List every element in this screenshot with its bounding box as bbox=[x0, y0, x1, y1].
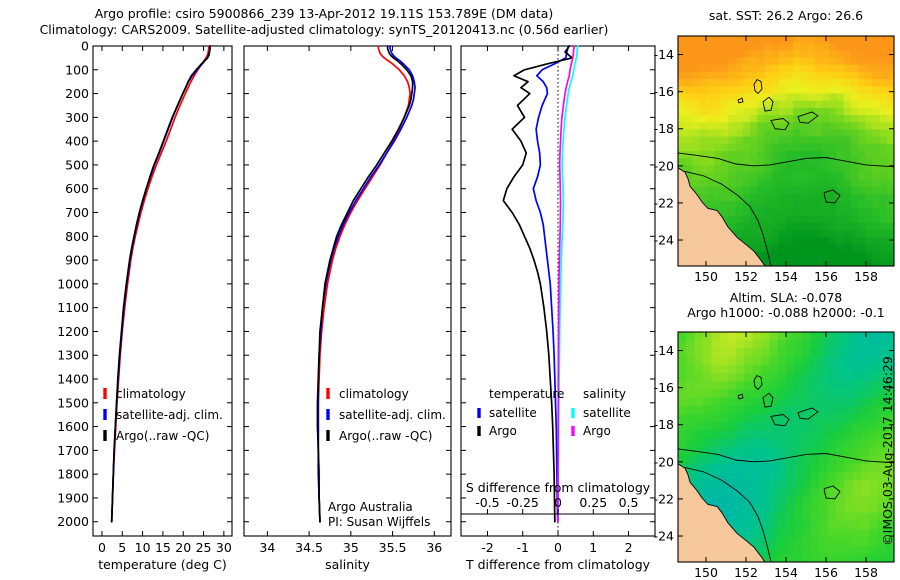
map-cell bbox=[700, 58, 708, 66]
map-cell bbox=[872, 187, 880, 195]
map-cell bbox=[786, 244, 794, 252]
map-cell bbox=[728, 101, 736, 109]
map-cell bbox=[736, 36, 744, 44]
map-cell bbox=[778, 398, 787, 407]
salinity-panel[interactable]: 3434.53535.536salinityclimatologysatelli… bbox=[238, 36, 463, 580]
map-cell bbox=[757, 50, 765, 58]
map-cell bbox=[880, 144, 888, 152]
map-cell bbox=[769, 406, 778, 415]
map-cell bbox=[808, 36, 816, 44]
map-cell bbox=[844, 340, 853, 349]
map-cell bbox=[836, 144, 844, 152]
map-cell bbox=[720, 348, 729, 357]
map-cell bbox=[753, 496, 762, 505]
map-cell bbox=[822, 79, 830, 87]
map-cell bbox=[711, 373, 720, 382]
map-cell bbox=[819, 480, 828, 489]
map-cell bbox=[743, 187, 751, 195]
map-cell bbox=[769, 390, 778, 399]
map-cell bbox=[703, 340, 712, 349]
map-cell bbox=[822, 43, 830, 51]
map-cell bbox=[869, 496, 878, 505]
map-cell bbox=[844, 151, 852, 159]
map-cell bbox=[858, 79, 866, 87]
map-cell bbox=[764, 129, 772, 137]
map-cell bbox=[721, 58, 729, 66]
map-cell bbox=[707, 144, 715, 152]
map-cell bbox=[761, 431, 770, 440]
map-cell bbox=[711, 463, 720, 472]
map-cell bbox=[858, 151, 866, 159]
map-cell bbox=[808, 165, 816, 173]
map-cell bbox=[786, 223, 794, 231]
map-cell bbox=[829, 43, 837, 51]
map-cell bbox=[865, 101, 873, 109]
map-cell bbox=[887, 216, 895, 224]
map-cell bbox=[861, 381, 870, 390]
map-cell bbox=[761, 373, 770, 382]
map-cell bbox=[686, 348, 695, 357]
map-cell bbox=[714, 115, 722, 123]
map-cell bbox=[772, 137, 780, 145]
map-cell bbox=[711, 381, 720, 390]
map-cell bbox=[844, 381, 853, 390]
map-cell bbox=[786, 43, 794, 51]
map-cell bbox=[851, 216, 859, 224]
map-cell bbox=[678, 390, 687, 399]
map-cell bbox=[764, 180, 772, 188]
map-cell bbox=[836, 521, 845, 530]
map-cell bbox=[779, 201, 787, 209]
map-cell bbox=[800, 79, 808, 87]
map-cell bbox=[819, 340, 828, 349]
map-cell bbox=[865, 173, 873, 181]
s-axis-tick-label: -0.5 bbox=[475, 495, 499, 510]
map-cell bbox=[728, 58, 736, 66]
map-cell bbox=[757, 115, 765, 123]
map-cell bbox=[819, 513, 828, 522]
map-cell bbox=[829, 194, 837, 202]
map-cell bbox=[794, 340, 803, 349]
map-cell bbox=[700, 72, 708, 80]
map-cell bbox=[829, 237, 837, 245]
map-cell bbox=[779, 86, 787, 94]
y-tick-label: 600 bbox=[65, 181, 89, 196]
map-cell bbox=[744, 398, 753, 407]
map-cell bbox=[803, 529, 812, 538]
map-cell bbox=[819, 406, 828, 415]
map-cell bbox=[852, 463, 861, 472]
map-cell bbox=[886, 546, 895, 555]
map-title: sat. SST: 26.2 Argo: 26.6 bbox=[709, 8, 863, 23]
map-cell bbox=[803, 463, 812, 472]
map-cell bbox=[743, 115, 751, 123]
difference-panel[interactable]: -2-1012T difference from climatology-0.5… bbox=[455, 36, 665, 580]
map-cell bbox=[800, 244, 808, 252]
map-cell bbox=[852, 505, 861, 514]
map-cell bbox=[811, 505, 820, 514]
map-cell bbox=[880, 201, 888, 209]
map-cell bbox=[695, 439, 704, 448]
map-cell bbox=[711, 439, 720, 448]
map-cell bbox=[778, 546, 787, 555]
map-cell bbox=[728, 144, 736, 152]
map-cell bbox=[714, 201, 722, 209]
map-cell bbox=[822, 94, 830, 102]
map-cell bbox=[794, 439, 803, 448]
map-cell bbox=[692, 58, 700, 66]
map-cell bbox=[822, 252, 830, 260]
map-cell bbox=[736, 398, 745, 407]
map-cell bbox=[819, 431, 828, 440]
map-cell bbox=[743, 129, 751, 137]
map-cell bbox=[887, 72, 895, 80]
map-cell bbox=[707, 158, 715, 166]
map-cell bbox=[851, 244, 859, 252]
map-cell bbox=[736, 209, 744, 217]
map-cell bbox=[772, 180, 780, 188]
map-cell bbox=[772, 144, 780, 152]
map-cell bbox=[700, 43, 708, 51]
map-cell bbox=[743, 144, 751, 152]
x-tick-label: 35 bbox=[343, 540, 359, 555]
map-cell bbox=[858, 180, 866, 188]
map-cell bbox=[819, 373, 828, 382]
map-cell bbox=[828, 529, 837, 538]
map-cell bbox=[819, 529, 828, 538]
map-cell bbox=[703, 381, 712, 390]
map-cell bbox=[844, 50, 852, 58]
map-cell bbox=[778, 381, 787, 390]
map-cell bbox=[703, 357, 712, 366]
legend-label: Argo bbox=[489, 424, 517, 438]
map-cell bbox=[779, 94, 787, 102]
map-cell bbox=[815, 36, 823, 44]
map-cell bbox=[851, 72, 859, 80]
map-cell bbox=[794, 505, 803, 514]
map-cell bbox=[851, 201, 859, 209]
map-cell bbox=[772, 94, 780, 102]
map-cell bbox=[811, 513, 820, 522]
map-cell bbox=[869, 365, 878, 374]
map-cell bbox=[678, 137, 686, 145]
map-cell bbox=[808, 144, 816, 152]
map-cell bbox=[880, 94, 888, 102]
map-cell bbox=[772, 129, 780, 137]
map-cell bbox=[714, 65, 722, 73]
map-cell bbox=[819, 390, 828, 399]
map-cell bbox=[829, 259, 837, 267]
map-cell bbox=[836, 398, 845, 407]
map-cell bbox=[872, 237, 880, 245]
map-cell bbox=[703, 398, 712, 407]
map-cell bbox=[714, 72, 722, 80]
map-cell bbox=[819, 348, 828, 357]
map-cell bbox=[678, 447, 687, 456]
map-cell bbox=[721, 36, 729, 44]
map-cell bbox=[728, 36, 736, 44]
map-cell bbox=[720, 390, 729, 399]
map-cell bbox=[772, 65, 780, 73]
map-cell bbox=[786, 554, 795, 563]
map-cell bbox=[750, 216, 758, 224]
map-cell bbox=[803, 537, 812, 546]
map-cell bbox=[736, 72, 744, 80]
x-tick-label: 5 bbox=[118, 540, 126, 555]
map-cell bbox=[728, 50, 736, 58]
map-cell bbox=[815, 43, 823, 51]
map-cell bbox=[707, 58, 715, 66]
map-cell bbox=[872, 158, 880, 166]
map-cell bbox=[692, 108, 700, 116]
sst-map-panel[interactable]: sat. SST: 26.2 Argo: 26.6150152154156158… bbox=[640, 4, 900, 294]
map-cell bbox=[744, 472, 753, 481]
map-cell bbox=[844, 505, 853, 514]
map-cell bbox=[828, 406, 837, 415]
temperature-panel[interactable]: 0100200300400500600700800900100011001200… bbox=[0, 36, 240, 580]
map-cell bbox=[764, 201, 772, 209]
map-cell bbox=[736, 521, 745, 530]
map-cell bbox=[778, 505, 787, 514]
legend-label: climatology bbox=[339, 387, 409, 401]
map-cell bbox=[851, 252, 859, 260]
map-cell bbox=[793, 94, 801, 102]
profile-curve bbox=[318, 46, 410, 522]
map-cell bbox=[836, 431, 845, 440]
map-cell bbox=[720, 431, 729, 440]
map-cell bbox=[750, 223, 758, 231]
map-cell bbox=[736, 115, 744, 123]
map-cell bbox=[721, 194, 729, 202]
map-cell bbox=[794, 529, 803, 538]
map-cell bbox=[858, 252, 866, 260]
map-cell bbox=[869, 554, 878, 563]
map-cell bbox=[852, 439, 861, 448]
map-cell bbox=[865, 65, 873, 73]
map-cell bbox=[721, 209, 729, 217]
map-cell bbox=[703, 472, 712, 481]
map-cell bbox=[822, 122, 830, 130]
map-cell bbox=[761, 414, 770, 423]
map-cell bbox=[800, 173, 808, 181]
map-cell bbox=[736, 43, 744, 51]
map-cell bbox=[794, 373, 803, 382]
map-cell bbox=[736, 65, 744, 73]
map-cell bbox=[793, 180, 801, 188]
map-cell bbox=[778, 390, 787, 399]
map-cell bbox=[844, 129, 852, 137]
s-axis-tick-label: 0.5 bbox=[619, 495, 639, 510]
map-cell bbox=[753, 529, 762, 538]
map-cell bbox=[686, 455, 695, 464]
map-cell bbox=[800, 129, 808, 137]
map-cell bbox=[880, 237, 888, 245]
map-cell bbox=[764, 144, 772, 152]
map-cell bbox=[836, 252, 844, 260]
map-cell bbox=[808, 58, 816, 66]
map-cell bbox=[794, 546, 803, 555]
map-cell bbox=[744, 488, 753, 497]
map-cell bbox=[872, 108, 880, 116]
map-cell bbox=[872, 230, 880, 238]
x-axis-label: salinity bbox=[325, 557, 370, 572]
map-cell bbox=[744, 390, 753, 399]
s-axis-tick-label: 0.25 bbox=[579, 495, 607, 510]
map-cell bbox=[887, 36, 895, 44]
map-cell bbox=[851, 58, 859, 66]
map-cell bbox=[865, 72, 873, 80]
map-cell bbox=[736, 50, 744, 58]
map-cell bbox=[779, 72, 787, 80]
map-cell bbox=[803, 480, 812, 489]
map-cell bbox=[858, 144, 866, 152]
map-cell bbox=[678, 86, 686, 94]
map-cell bbox=[861, 447, 870, 456]
map-cell bbox=[803, 381, 812, 390]
map-cell bbox=[865, 209, 873, 217]
map-cell bbox=[743, 94, 751, 102]
map-cell bbox=[769, 381, 778, 390]
map-cell bbox=[869, 431, 878, 440]
map-cell bbox=[811, 480, 820, 489]
map-cell bbox=[779, 244, 787, 252]
map-cell bbox=[736, 340, 745, 349]
map-cell bbox=[811, 332, 820, 341]
map-cell bbox=[750, 158, 758, 166]
map-cell bbox=[808, 201, 816, 209]
map-cell bbox=[794, 521, 803, 530]
map-cell bbox=[692, 86, 700, 94]
map-cell bbox=[743, 108, 751, 116]
map-cell bbox=[887, 108, 895, 116]
map-cell bbox=[692, 36, 700, 44]
map-cell bbox=[744, 439, 753, 448]
map-cell bbox=[786, 340, 795, 349]
map-cell bbox=[728, 513, 737, 522]
map-cell bbox=[750, 65, 758, 73]
map-cell bbox=[861, 513, 870, 522]
map-cell bbox=[728, 194, 736, 202]
map-cell bbox=[836, 505, 845, 514]
map-cell bbox=[872, 122, 880, 130]
map-cell bbox=[686, 390, 695, 399]
map-cell bbox=[728, 406, 737, 415]
map-cell bbox=[829, 94, 837, 102]
map-cell bbox=[750, 122, 758, 130]
map-cell bbox=[744, 496, 753, 505]
y-tick-label: -22 bbox=[654, 195, 674, 210]
map-cell bbox=[844, 79, 852, 87]
map-cell bbox=[736, 144, 744, 152]
map-cell bbox=[779, 50, 787, 58]
map-cell bbox=[678, 108, 686, 116]
map-cell bbox=[800, 94, 808, 102]
map-cell bbox=[721, 144, 729, 152]
map-cell bbox=[707, 137, 715, 145]
map-cell bbox=[728, 79, 736, 87]
map-cell bbox=[880, 72, 888, 80]
map-cell bbox=[720, 439, 729, 448]
map-cell bbox=[757, 194, 765, 202]
map-cell bbox=[750, 151, 758, 159]
map-cell bbox=[844, 455, 853, 464]
map-cell bbox=[721, 79, 729, 87]
map-cell bbox=[764, 58, 772, 66]
map-cell bbox=[887, 173, 895, 181]
map-cell bbox=[836, 129, 844, 137]
map-cell bbox=[714, 108, 722, 116]
map-cell bbox=[778, 447, 787, 456]
map-cell bbox=[828, 488, 837, 497]
map-cell bbox=[836, 513, 845, 522]
map-cell bbox=[736, 108, 744, 116]
map-cell bbox=[695, 332, 704, 341]
map-cell bbox=[872, 173, 880, 181]
map-cell bbox=[852, 513, 861, 522]
map-cell bbox=[703, 431, 712, 440]
map-cell bbox=[772, 223, 780, 231]
map-cell bbox=[815, 122, 823, 130]
map-cell bbox=[728, 173, 736, 181]
map-cell bbox=[844, 390, 853, 399]
map-cell bbox=[728, 414, 737, 423]
map-cell bbox=[808, 252, 816, 260]
map-cell bbox=[736, 137, 744, 145]
map-cell bbox=[743, 101, 751, 109]
map-cell bbox=[872, 115, 880, 123]
map-cell bbox=[822, 86, 830, 94]
map-cell bbox=[753, 414, 762, 423]
map-cell bbox=[772, 165, 780, 173]
sla-map-panel[interactable]: Altim. SLA: -0.078Argo h1000: -0.088 h20… bbox=[640, 286, 900, 580]
map-cell bbox=[794, 365, 803, 374]
map-cell bbox=[872, 43, 880, 51]
map-cell bbox=[779, 101, 787, 109]
map-cell bbox=[865, 230, 873, 238]
y-tick-label: -20 bbox=[654, 454, 674, 469]
map-cell bbox=[736, 129, 744, 137]
y-tick-label: 900 bbox=[65, 253, 89, 268]
map-cell bbox=[692, 101, 700, 109]
map-cell bbox=[678, 36, 686, 44]
map-cell bbox=[692, 144, 700, 152]
map-cell bbox=[695, 373, 704, 382]
map-cell bbox=[836, 72, 844, 80]
map-cell bbox=[836, 230, 844, 238]
map-cell bbox=[822, 180, 830, 188]
map-cell bbox=[786, 151, 794, 159]
map-cell bbox=[793, 244, 801, 252]
map-cell bbox=[815, 65, 823, 73]
map-cell bbox=[720, 447, 729, 456]
map-cell bbox=[865, 122, 873, 130]
map-cell bbox=[803, 439, 812, 448]
map-cell bbox=[815, 187, 823, 195]
map-cell bbox=[869, 472, 878, 481]
map-cell bbox=[793, 187, 801, 195]
map-cell bbox=[887, 137, 895, 145]
map-cell bbox=[851, 101, 859, 109]
map-cell bbox=[844, 108, 852, 116]
map-cell bbox=[779, 36, 787, 44]
map-cell bbox=[711, 365, 720, 374]
y-tick-label: -20 bbox=[654, 158, 674, 173]
map-cell bbox=[750, 137, 758, 145]
map-cell bbox=[764, 216, 772, 224]
map-cell bbox=[678, 158, 686, 166]
map-cell bbox=[757, 244, 765, 252]
map-cell bbox=[803, 546, 812, 555]
